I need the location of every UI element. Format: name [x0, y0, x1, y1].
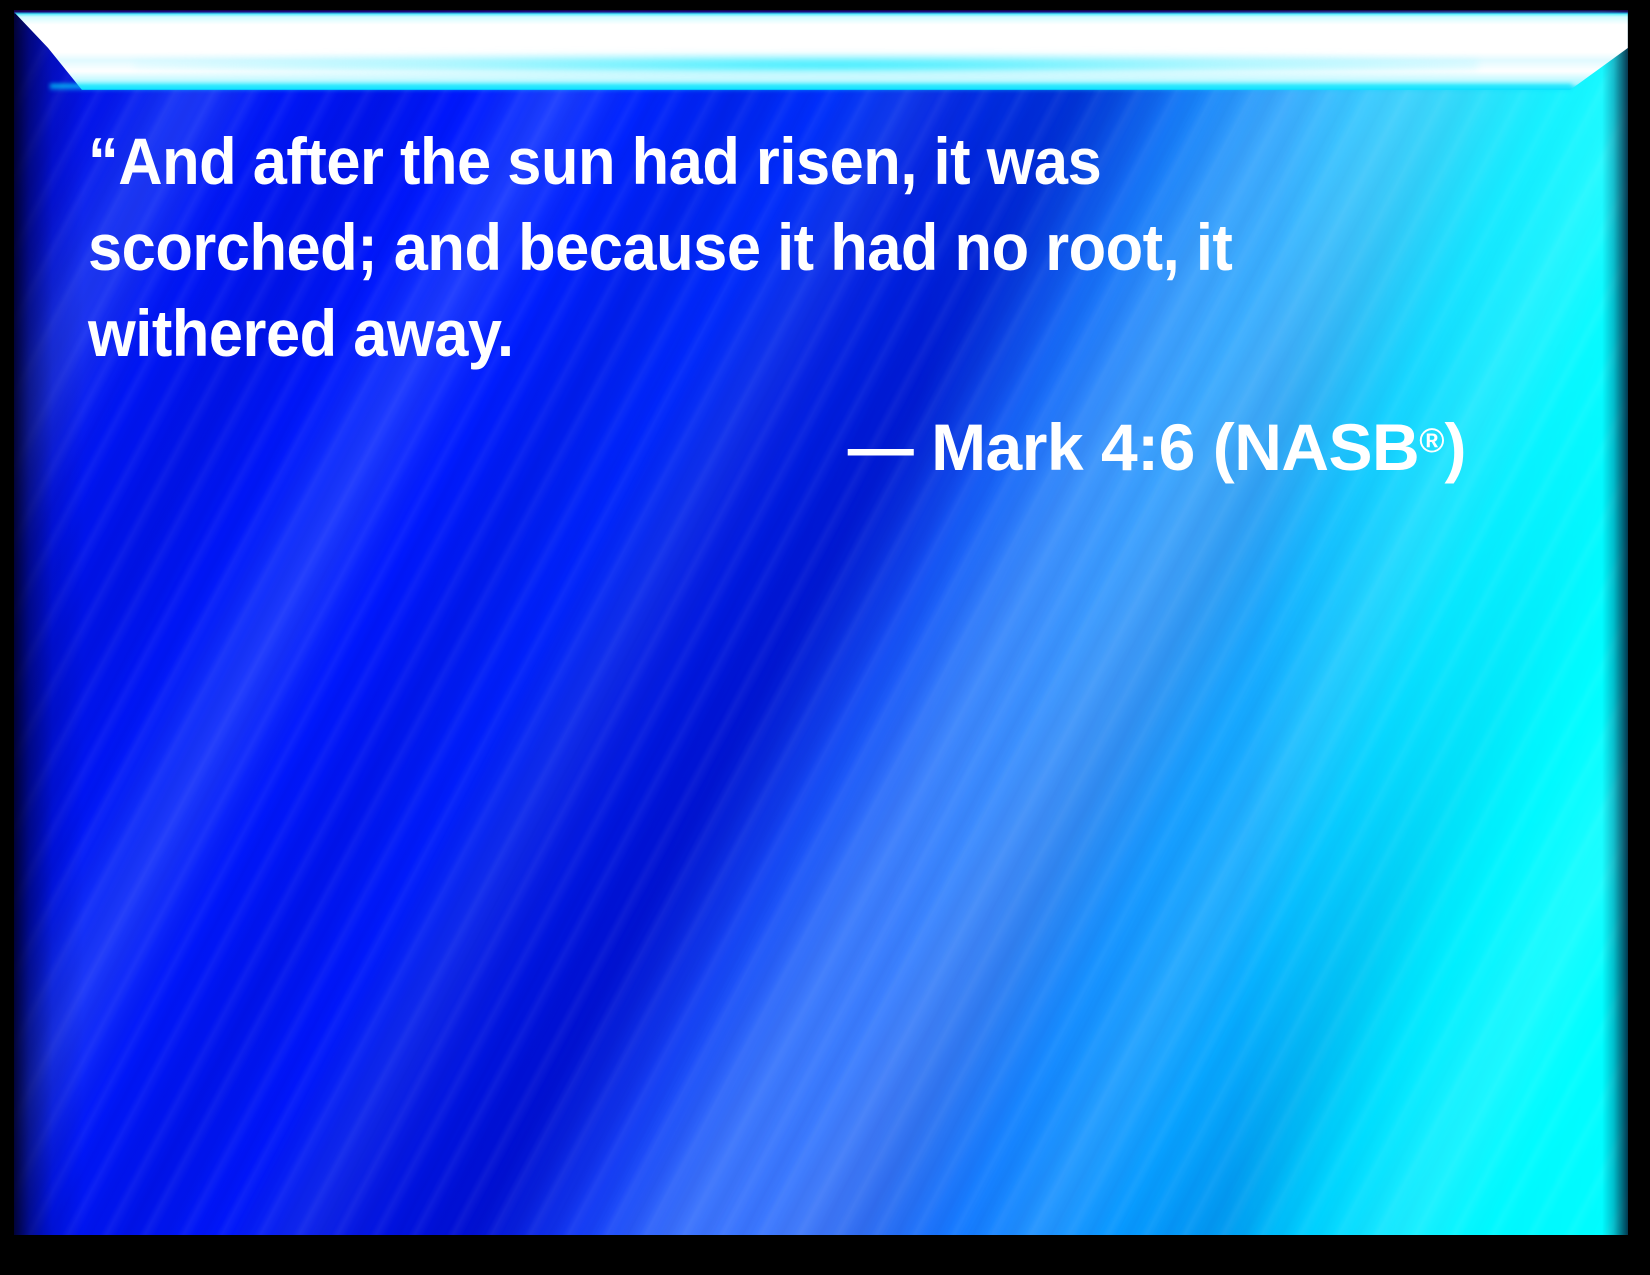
top-banner	[14, 10, 1628, 102]
attribution-open-paren: (	[1213, 410, 1234, 484]
verse-line-1: “And after the sun had risen, it was	[88, 118, 1390, 204]
background-right-vignette	[1602, 10, 1628, 1235]
top-banner-cyan-rim	[50, 84, 1572, 91]
verse-text-block: “And after the sun had risen, it was sco…	[88, 118, 1488, 490]
registered-trademark-icon: ®	[1419, 422, 1444, 460]
top-banner-shape	[14, 12, 1628, 90]
verse-slide: “And after the sun had risen, it was sco…	[0, 0, 1650, 1275]
attribution-reference: Mark 4:6	[931, 410, 1195, 484]
slide-artwork: “And after the sun had risen, it was sco…	[14, 10, 1628, 1235]
verse-line-3: withered away.	[88, 290, 1390, 376]
top-banner-dark-edge	[14, 10, 1628, 14]
verse-attribution: — Mark 4:6 (NASB®)	[88, 398, 1488, 490]
attribution-close-paren: )	[1445, 410, 1466, 484]
background-left-vignette	[14, 10, 84, 1235]
attribution-em-dash: —	[848, 410, 914, 484]
attribution-translation: NASB	[1234, 410, 1419, 484]
top-banner-cyan-wisp	[134, 54, 1478, 76]
verse-line-2: scorched; and because it had no root, it	[88, 204, 1390, 290]
